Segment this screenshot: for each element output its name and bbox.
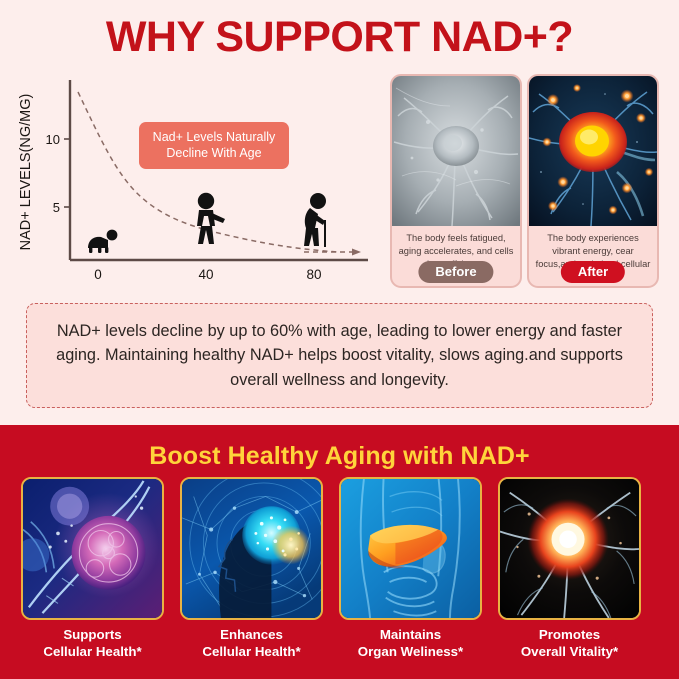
benefit-label: Enhances Cellular Health* [180, 627, 323, 660]
chart-xtick-40: 40 [198, 267, 213, 282]
brain-network-head-image [180, 477, 323, 620]
chart-xtick-80: 80 [306, 267, 321, 282]
dna-cell-cluster-image [21, 477, 164, 620]
summary-text: NAD+ levels decline by up to 60% with ag… [27, 319, 652, 391]
summary-box: NAD+ levels decline by up to 60% with ag… [26, 303, 653, 408]
benefits-heading: Boost Healthy Aging with NAD+ [0, 442, 679, 471]
benefit-label: Promotes Overall Vitality* [498, 627, 641, 660]
after-badge: After [561, 261, 625, 283]
liver-organ-anatomy-image [339, 477, 482, 620]
benefit-label: Supports Cellular Health* [21, 627, 164, 660]
top-section: WHY SUPPORT NAD+? [0, 0, 679, 425]
page-title: WHY SUPPORT NAD+? [0, 13, 679, 62]
chart-ytick-5: 5 [53, 200, 60, 215]
benefit-label: Maintains Organ Weliness* [339, 627, 482, 660]
dull-gray-neuron-image [392, 76, 520, 226]
benefit-card-maintains-organ-wellness[interactable]: Maintains Organ Weliness* [339, 477, 482, 660]
crawling-baby-icon [88, 230, 117, 253]
benefit-card-supports-cellular-health[interactable]: Supports Cellular Health* [21, 477, 164, 660]
chart-annotation-badge: Nad+ Levels Naturally Decline With Age [139, 122, 289, 169]
glowing-neuron-image [498, 477, 641, 620]
benefit-card-enhances-cellular-health[interactable]: Enhances Cellular Health* [180, 477, 323, 660]
walking-adult-icon [197, 193, 225, 244]
after-card: After The body experiences vibrant energ… [527, 74, 659, 288]
before-card: Before The body feels fatigued, aging ac… [390, 74, 522, 288]
chart-xtick-0: 0 [94, 267, 102, 282]
chart-y-axis-label: NAD+ LEVELS(NG/MG) [18, 94, 34, 251]
benefits-row: Supports Cellular Health* [0, 477, 679, 677]
benefit-card-promotes-overall-vitality[interactable]: Promotes Overall Vitality* [498, 477, 641, 660]
nad-decline-chart: NAD+ LEVELS(NG/MG) 10 5 0 40 80 [8, 72, 383, 290]
elderly-with-cane-icon [304, 193, 326, 247]
chart-ytick-10: 10 [46, 132, 60, 147]
benefits-section: Boost Healthy Aging with NAD+ [0, 425, 679, 679]
glowing-energized-neuron-image [529, 76, 657, 226]
before-badge: Before [418, 261, 493, 283]
